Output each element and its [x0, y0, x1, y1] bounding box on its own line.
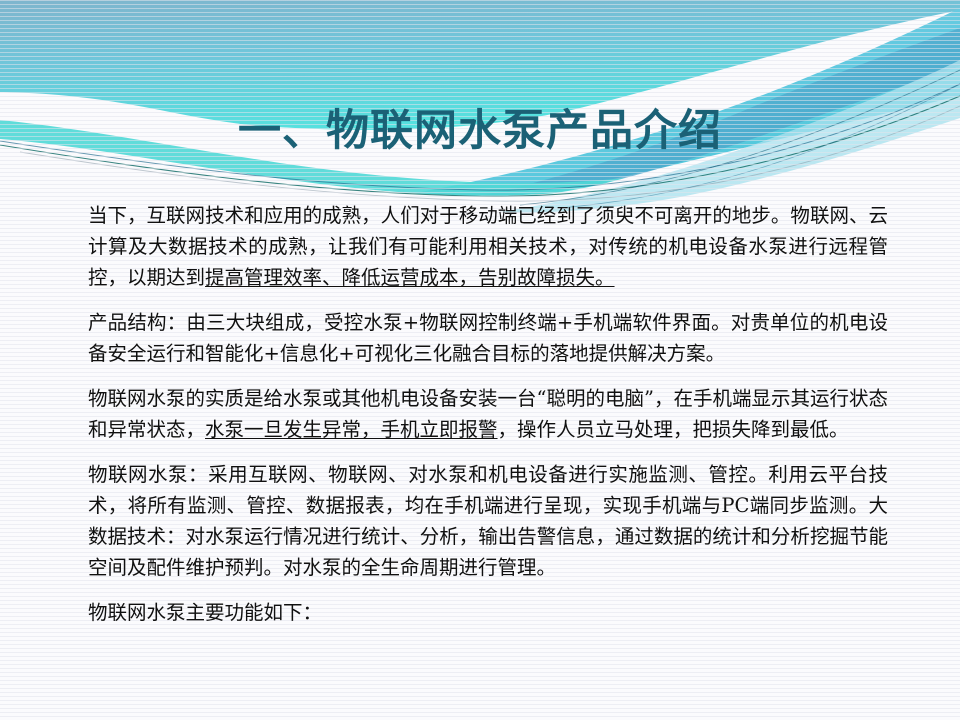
body-paragraph: 当下，互联网技术和应用的成熟，人们对于移动端已经到了须臾不可离开的地步。物联网、…: [88, 200, 888, 293]
text-run: 物联网水泵：采用互联网、物联网、对水泵和机电设备进行实施监测、管控。利用云平台技…: [88, 463, 888, 579]
text-run: ，操作人员立马处理，把损失降到最低。: [498, 418, 849, 441]
page-title: 一、物联网水泵产品介绍: [238, 108, 722, 154]
body-paragraph: 物联网水泵的实质是给水泵或其他机电设备安装一台“聪明的电脑”，在手机端显示其运行…: [88, 383, 888, 445]
slide-body: 当下，互联网技术和应用的成熟，人们对于移动端已经到了须臾不可离开的地步。物联网、…: [88, 200, 888, 628]
page-title-container: 一、物联网水泵产品介绍: [0, 108, 960, 154]
body-paragraph: 物联网水泵主要功能如下：: [88, 597, 888, 628]
body-paragraph: 物联网水泵：采用互联网、物联网、对水泵和机电设备进行实施监测、管控。利用云平台技…: [88, 459, 888, 583]
text-run: 物联网水泵主要功能如下：: [88, 601, 322, 624]
presentation-slide: 一、物联网水泵产品介绍 当下，互联网技术和应用的成熟，人们对于移动端已经到了须臾…: [0, 0, 960, 720]
text-run: 产品结构：由三大块组成，受控水泵+物联网控制终端+手机端软件界面。对贵单位的机电…: [88, 311, 888, 365]
underlined-text-run: 水泵一旦发生异常，手机立即报警: [205, 418, 498, 441]
body-paragraph: 产品结构：由三大块组成，受控水泵+物联网控制终端+手机端软件界面。对贵单位的机电…: [88, 307, 888, 369]
underlined-text-run: 提高管理效率、降低运营成本，告别故障损失。: [205, 266, 615, 289]
